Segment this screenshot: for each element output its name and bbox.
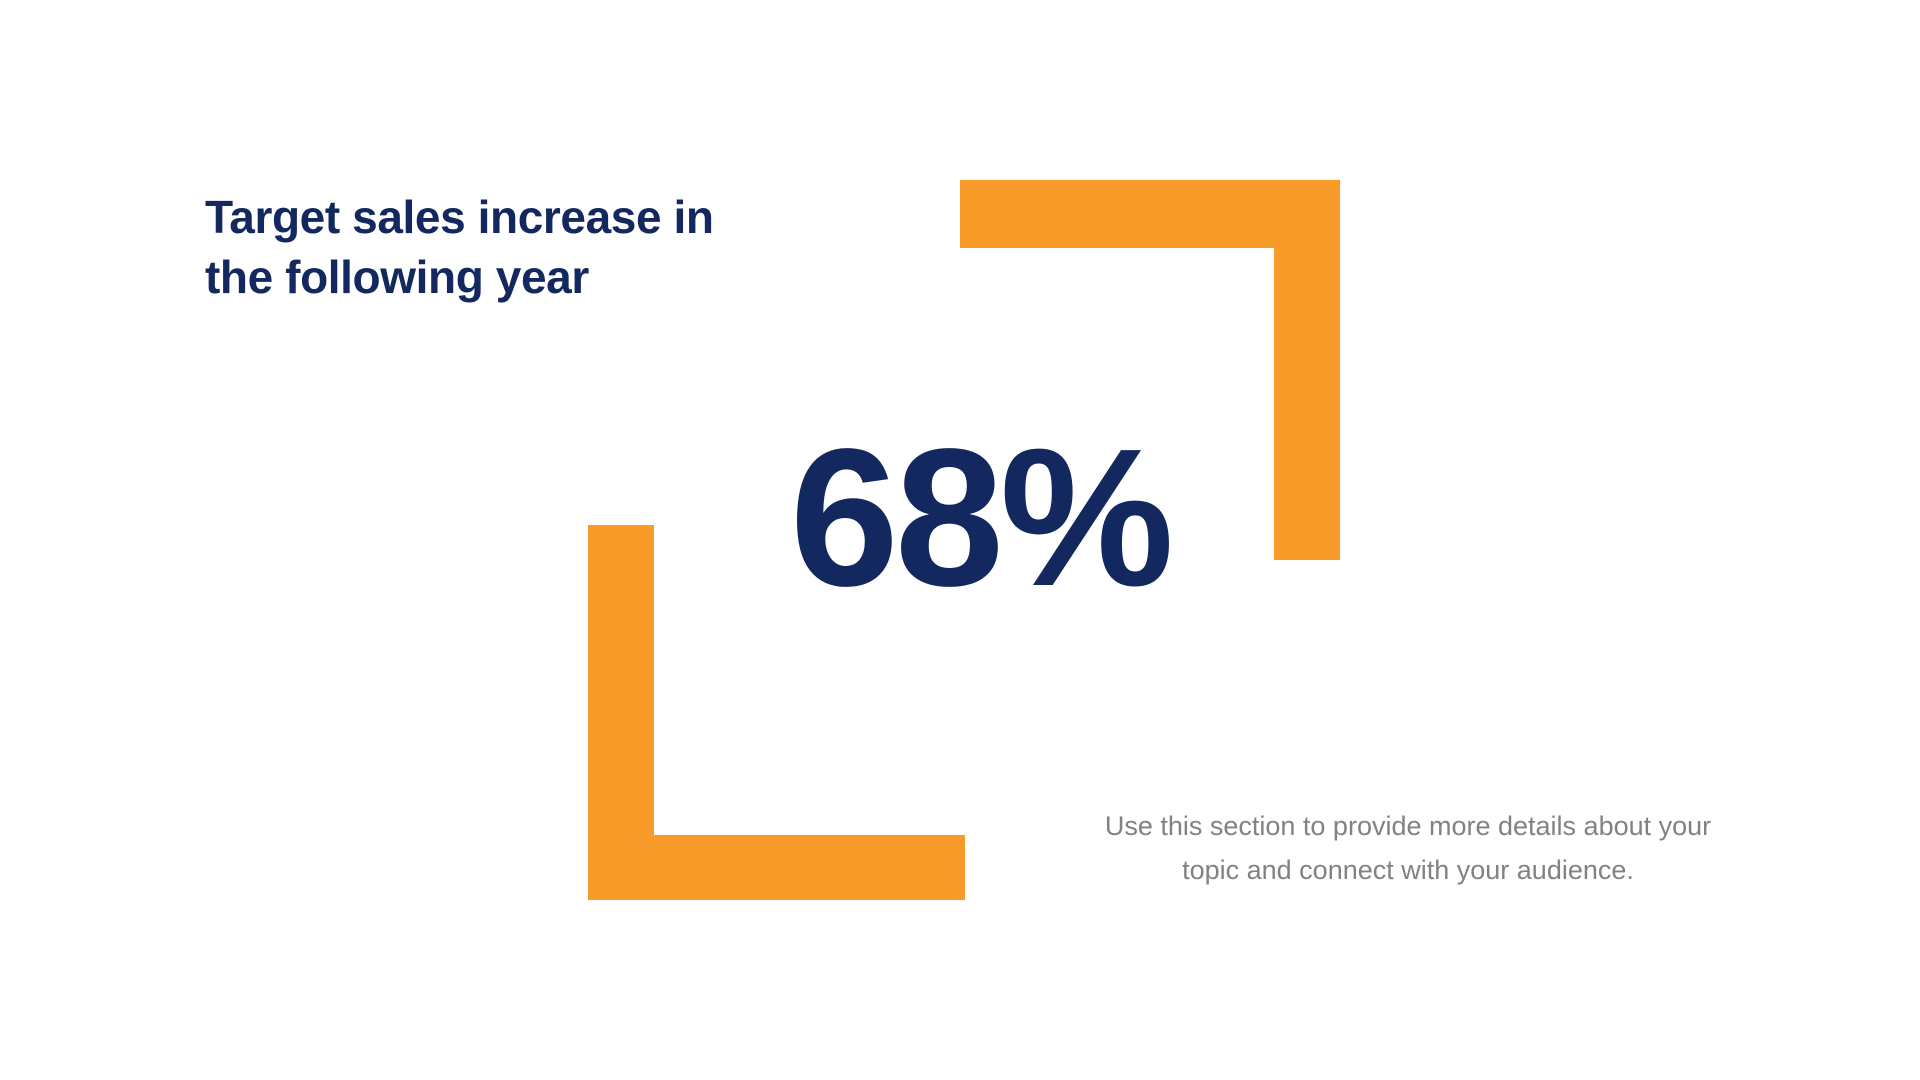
page-title: Target sales increase in the following y…	[205, 188, 905, 308]
statistic-value: 68%	[700, 420, 1260, 616]
bracket-bottom-horizontal-bar	[588, 835, 965, 900]
description-text: Use this section to provide more details…	[1078, 805, 1738, 892]
slide-canvas: Target sales increase in the following y…	[0, 0, 1920, 1080]
bracket-right-vertical-bar	[1274, 180, 1340, 560]
